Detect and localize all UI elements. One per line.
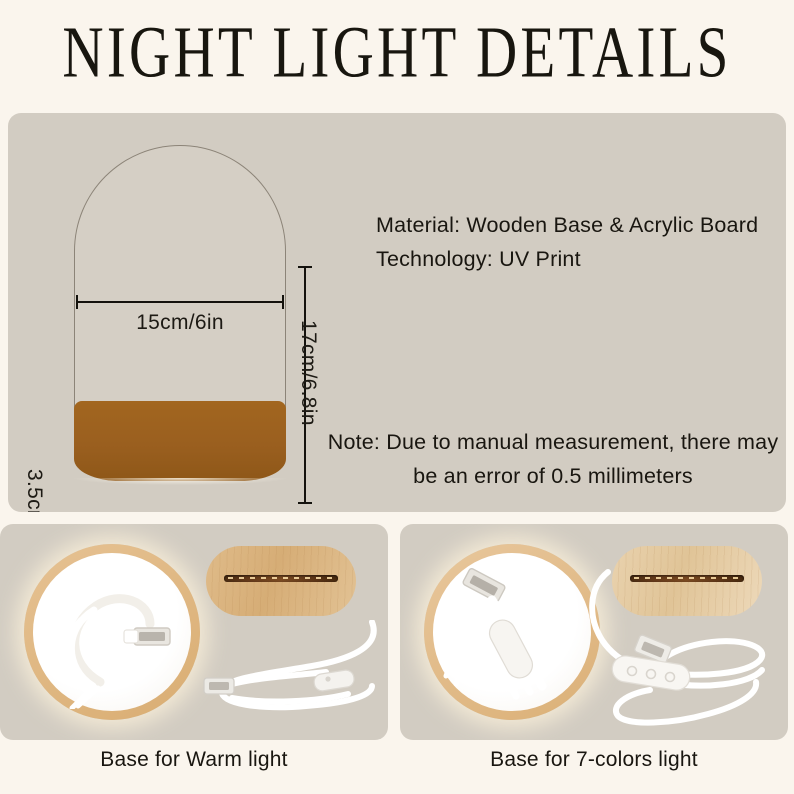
usb-power-cord-icon: [196, 620, 382, 732]
width-dimension-line: [76, 301, 284, 303]
measurement-note: Note: Due to manual measurement, there m…: [318, 425, 786, 493]
height-dimension-label: 17cm/6.8in: [296, 320, 320, 450]
warm-light-base-photo: [0, 524, 388, 740]
width-dimension-label: 15cm/6in: [74, 311, 286, 335]
page-title: NIGHT LIGHT DETAILS: [32, 8, 762, 98]
round-wooden-base-lit: [24, 544, 200, 720]
acrylic-board-shape: [74, 145, 286, 435]
rounded-wooden-base-top-view: [206, 546, 356, 616]
spec-text-block: Material: Wooden Base & Acrylic Board Te…: [376, 208, 758, 276]
warm-light-caption: Base for Warm light: [0, 748, 388, 772]
usb-cord-with-buttons-icon: [552, 564, 782, 732]
seven-colors-caption: Base for 7-colors light: [400, 748, 788, 772]
note-line-1: Note: Due to manual measurement, there m…: [318, 425, 786, 459]
night-light-dimension-diagram: 15cm/6in: [74, 145, 286, 487]
wooden-base-shape: [74, 401, 286, 481]
technology-line: Technology: UV Print: [376, 242, 758, 276]
note-line-2: be an error of 0.5 millimeters: [318, 459, 786, 493]
usb-cable-coil-icon: [38, 564, 188, 709]
material-line: Material: Wooden Base & Acrylic Board: [376, 208, 758, 242]
led-slot: [224, 575, 338, 582]
seven-colors-base-photo: [400, 524, 788, 740]
detail-panel: 15cm/6in 17cm/6.8in 3.5cm/1.4in Material…: [8, 113, 786, 512]
base-height-dimension-label: 3.5cm/1.4in: [22, 469, 46, 512]
